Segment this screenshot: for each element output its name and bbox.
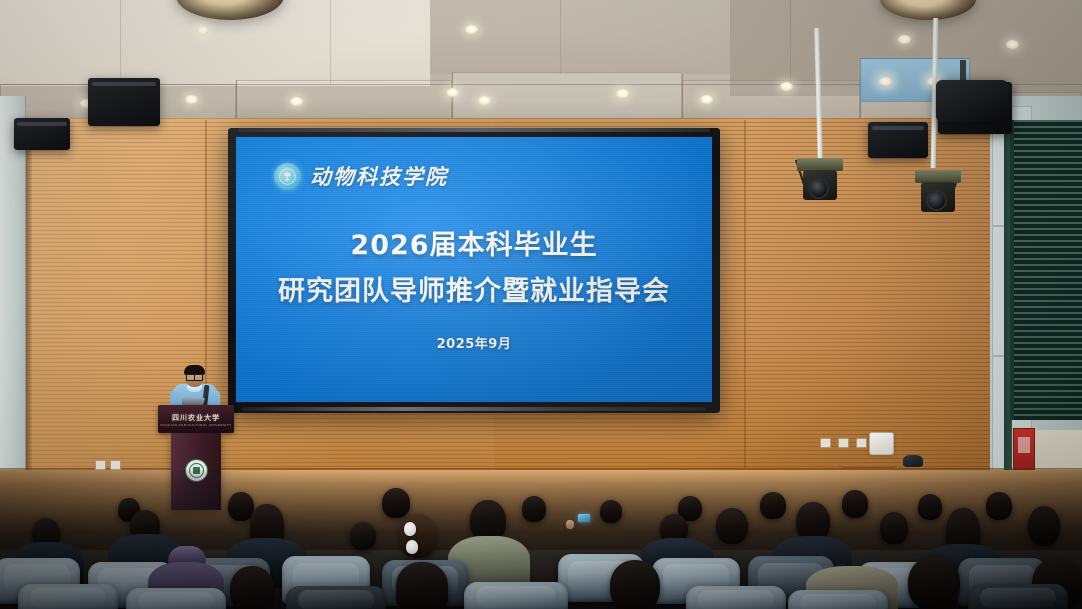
hanging-speaker-icon: [936, 80, 1008, 122]
audience-head: [350, 522, 376, 550]
auditorium-seat: [788, 590, 888, 609]
recessed-downlight-icon: [446, 88, 459, 97]
power-outlet-icon[interactable]: [838, 438, 849, 448]
audience-head: [382, 488, 410, 518]
audience-head: [400, 514, 436, 558]
power-outlet-icon[interactable]: [110, 460, 121, 470]
wall-speaker-icon: [14, 118, 70, 150]
slide-title-line2: 研究团队导师推介暨就业指导会: [236, 269, 712, 308]
hair-clip: [404, 522, 416, 536]
auditorium-seat: [464, 582, 568, 609]
auditorium-seat: [968, 584, 1068, 609]
auditorium-scene: 动物科技学院 2026届本科毕业生 研究团队导师推介暨就业指导会 2025年9月…: [0, 0, 1082, 609]
wall-speaker-icon: [868, 122, 928, 158]
recessed-downlight-icon: [898, 35, 911, 44]
recessed-downlight-icon: [465, 25, 478, 34]
slide-date: 2025年9月: [236, 333, 712, 352]
slide-organization-name: 动物科技学院: [310, 161, 448, 191]
wall-speaker-icon: [88, 78, 160, 126]
recessed-downlight-icon: [780, 82, 793, 91]
slide-title-line1: 2026届本科毕业生: [236, 223, 712, 262]
audience-head: [1028, 506, 1060, 546]
slide-brand-bar: 动物科技学院: [274, 161, 448, 191]
audience-head: [522, 496, 546, 522]
audience-head: [842, 490, 868, 518]
power-outlet-icon[interactable]: [820, 438, 831, 448]
circular-emblem-icon: [274, 163, 301, 190]
hair-clip: [406, 540, 418, 554]
phone-screen: [578, 514, 590, 522]
podium-university-name-latin: SICHUAN AGRICULTURAL UNIVERSITY: [158, 423, 234, 427]
recessed-downlight-icon: [185, 95, 198, 104]
audience-head: [918, 494, 942, 520]
led-display-screen[interactable]: 动物科技学院 2026届本科毕业生 研究团队导师推介暨就业指导会 2025年9月: [228, 128, 720, 413]
moving-head-light-icon: [915, 170, 961, 232]
podium-university-name: 四川农业大学: [158, 413, 234, 423]
recessed-downlight-icon: [196, 26, 209, 35]
fire-alarm-box-icon[interactable]: [1013, 428, 1035, 470]
audience-head: [908, 556, 960, 609]
audience-head: [880, 512, 908, 544]
auditorium-seat: [18, 584, 118, 609]
audience-area: [0, 470, 1082, 609]
podium-front-panel: 四川农业大学 SICHUAN AGRICULTURAL UNIVERSITY: [158, 405, 234, 433]
presentation-slide: 动物科技学院 2026届本科毕业生 研究团队导师推介暨就业指导会 2025年9月: [236, 137, 712, 402]
wifi-access-point-icon: [869, 432, 894, 455]
recessed-downlight-icon: [478, 96, 491, 105]
audience-head: [986, 492, 1012, 520]
louvered-wall-panel: [1010, 120, 1082, 420]
moving-head-light-icon: [797, 158, 843, 220]
audience-head: [230, 566, 274, 609]
audience-head: [610, 560, 660, 609]
audience-head: [760, 492, 786, 519]
power-outlet-icon[interactable]: [95, 460, 106, 470]
power-outlet-icon[interactable]: [856, 438, 867, 448]
auditorium-seat: [686, 586, 786, 609]
left-wall-column: [0, 96, 26, 506]
recessed-downlight-icon: [1006, 40, 1019, 49]
slide-title: 2026届本科毕业生 研究团队导师推介暨就业指导会: [236, 223, 712, 308]
recessed-downlight-icon: [700, 95, 713, 104]
recessed-downlight-icon: [616, 89, 629, 98]
audience-head: [396, 562, 448, 609]
screen-content-area: 动物科技学院 2026届本科毕业生 研究团队导师推介暨就业指导会 2025年9月: [236, 137, 712, 402]
auditorium-seat: [126, 588, 226, 609]
audience-head: [716, 508, 748, 544]
eyeglasses-icon: [186, 374, 203, 379]
audience-head: [600, 500, 622, 523]
recessed-downlight-icon: [290, 97, 303, 106]
auditorium-seat: [286, 586, 386, 609]
